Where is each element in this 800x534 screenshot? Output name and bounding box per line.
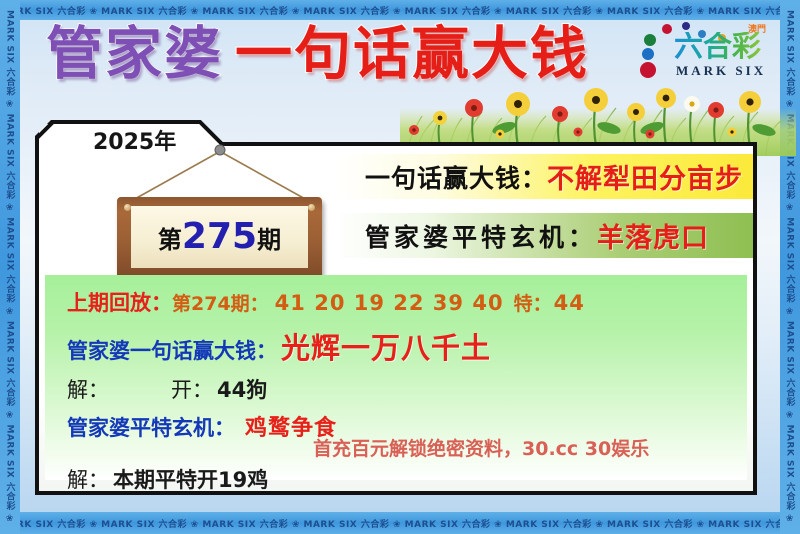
replay-numbers: 41 20 19 22 39 40 [275,291,504,315]
banner-xuanji: 管家婆平特玄机： 羊落虎口 [335,213,753,258]
phrase-value: 光辉一万八千土 [281,325,491,367]
mark-six-logo[interactable]: 澳門 六合彩 MARK SIX [640,18,770,84]
promo-watermark: 首充百元解锁绝密资料，30.cc 30娱乐 [313,434,649,461]
issue-suffix: 期 [257,226,281,254]
info-block: 上期回放： 第274期： 41 20 19 22 39 40 特： 44 管家婆… [45,275,747,480]
banner-phrase: 一句话赢大钱： 不解犁田分亩步 [335,154,753,199]
replay-special-label: 特： [514,289,552,316]
page-title: 管家婆 一句话赢大钱 [46,26,589,83]
banner-phrase-value: 不解犁田分亩步 [547,157,743,196]
answer2-value: 本期平特开19鸡 [113,464,268,494]
logo-dot [662,24,672,34]
answer1-open-label: 开： [171,374,213,404]
issue-text: 第275期 [158,219,281,255]
banner-xuanji-value: 羊落虎口 [597,216,709,255]
banner-xuanji-label: 管家婆平特玄机： [365,218,597,254]
logo-dot [642,48,654,60]
border-pattern-left-text: MARK SIX 六合彩 ❀ MARK SIX 六合彩 ❀ MARK SIX 六… [4,10,17,525]
sign-screw [308,204,315,211]
replay-issue: 第274期： [172,289,269,316]
row-answer-one: 解： 开： 44狗 [67,374,747,404]
sign-screw [124,204,131,211]
border-pattern-left: MARK SIX 六合彩 ❀ MARK SIX 六合彩 ❀ MARK SIX 六… [0,0,20,534]
sign-paper: 第275期 [131,206,308,268]
logo-dot [640,62,656,78]
replay-label: 上期回放： [67,287,172,317]
phrase-label: 管家婆一句话赢大钱： [67,335,277,365]
border-pattern-top: MARK SIX 六合彩 ❀ MARK SIX 六合彩 ❀ MARK SIX 六… [0,0,800,20]
answer1-label: 解： [67,374,109,404]
row-phrase: 管家婆一句话赢大钱： 光辉一万八千土 [67,325,747,367]
border-pattern-top-text: MARK SIX 六合彩 ❀ MARK SIX 六合彩 ❀ MARK SIX 六… [0,4,800,17]
issue-number: 275 [182,216,257,257]
hanging-issue-sign: 第275期 [117,144,337,289]
page-title-slogan: 一句话赢大钱 [235,26,589,83]
border-pattern-bottom-text: MARK SIX 六合彩 ❀ MARK SIX 六合彩 ❀ MARK SIX 六… [0,517,800,530]
row-replay: 上期回放： 第274期： 41 20 19 22 39 40 特： 44 [67,287,747,317]
replay-special-number: 44 [554,291,585,315]
banner-phrase-label: 一句话赢大钱： [365,159,547,195]
answer2-label: 解： [67,464,109,494]
page-title-brand: 管家婆 [46,26,223,83]
issue-prefix: 第 [158,226,182,254]
xuanji-label: 管家婆平特玄机： [67,412,235,442]
logo-name-cn: 六合彩 [674,32,761,61]
logo-dot [644,34,656,46]
answer1-value: 44狗 [217,374,267,404]
logo-name-en: MARK SIX [676,63,766,79]
main-panel: 2025年 第275期 一句话赢大钱： 不解犁田分亩步 管家婆平特玄机： 羊 [35,120,757,495]
row-answer-two: 解： 本期平特开19鸡 [67,464,747,494]
border-pattern-bottom: MARK SIX 六合彩 ❀ MARK SIX 六合彩 ❀ MARK SIX 六… [0,512,800,534]
poster-root: 管家婆 一句话赢大钱 澳門 六合彩 MARK SIX 2025年 [0,0,800,534]
sign-board: 第275期 [117,197,322,279]
